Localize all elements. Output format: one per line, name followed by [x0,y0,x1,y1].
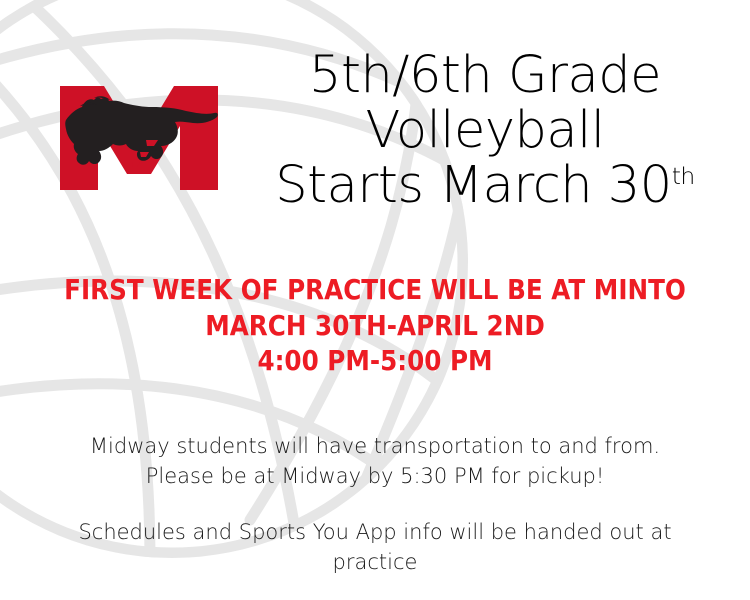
transportation-line-2: Please be at Midway by 5:30 PM for picku… [0,462,750,492]
practice-details-block: FIRST WEEK OF PRACTICE WILL BE AT MINTO … [0,272,750,379]
schedules-line-2: practice [0,548,750,578]
transportation-line-1: Midway students will have transportation… [0,432,750,462]
headline-ordinal-suffix: th [672,162,695,190]
mustang-m-logo [54,78,224,198]
schedules-paragraph: Schedules and Sports You App info will b… [0,518,750,578]
schedules-line-1: Schedules and Sports You App info will b… [0,518,750,548]
headline-block: 5th/6th Grade Volleyball Starts March 30… [232,48,738,213]
headline-startdate-text: Starts March 30 [275,156,671,215]
headline-line-sport: Volleyball [232,103,738,158]
practice-time-line: 4:00 PM-5:00 PM [45,343,705,379]
headline-line-grade: 5th/6th Grade [232,48,738,103]
practice-dates-line: MARCH 30TH-APRIL 2ND [45,308,705,344]
practice-location-line: FIRST WEEK OF PRACTICE WILL BE AT MINTO [45,272,705,308]
headline-line-startdate: Starts March 30th [232,158,738,213]
transportation-paragraph: Midway students will have transportation… [0,432,750,492]
volleyball-announcement-flyer: 5th/6th Grade Volleyball Starts March 30… [0,0,750,600]
